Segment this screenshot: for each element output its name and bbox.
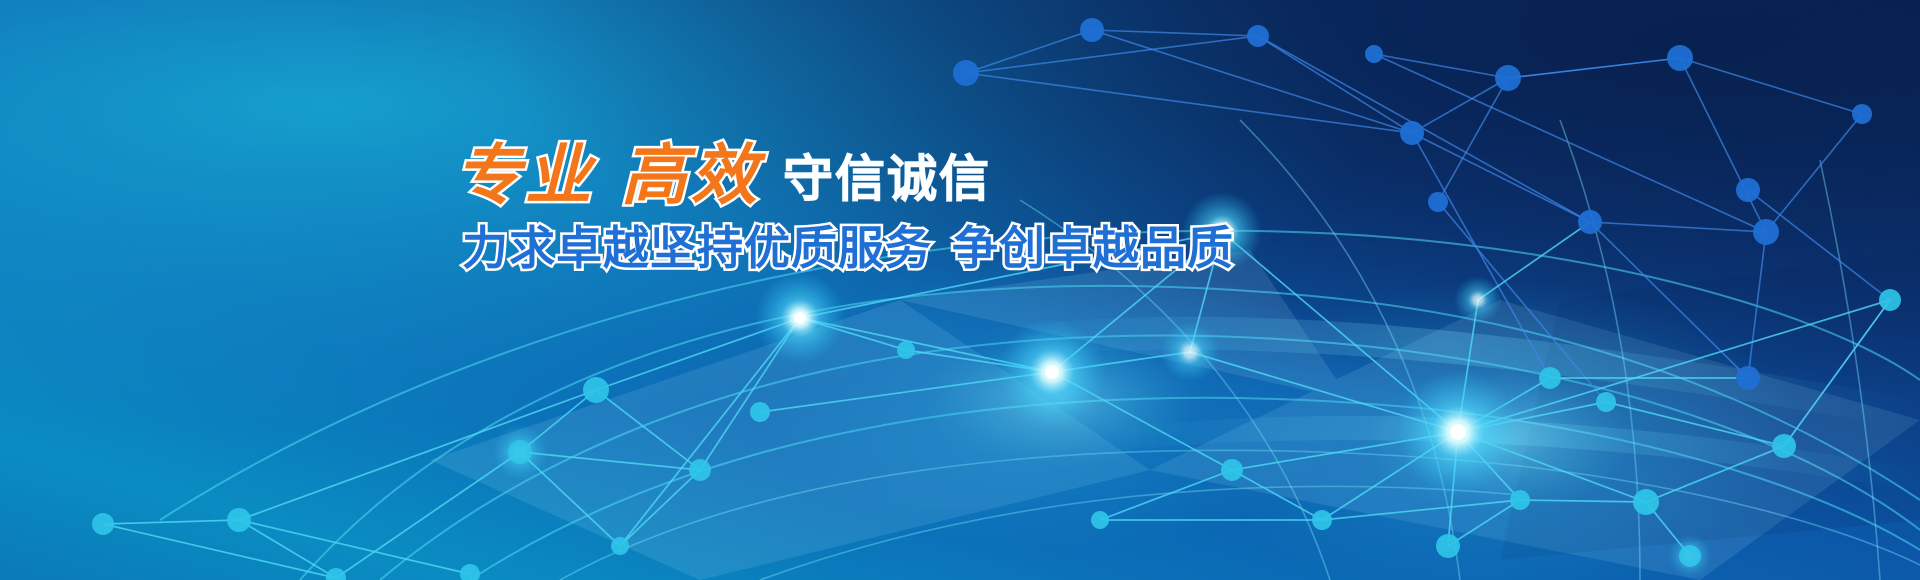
hero-banner: 专业高效 守信诚信 力求卓越坚持优质服务争创卓越品质	[0, 0, 1920, 580]
network-mesh-graphic	[0, 0, 1920, 580]
